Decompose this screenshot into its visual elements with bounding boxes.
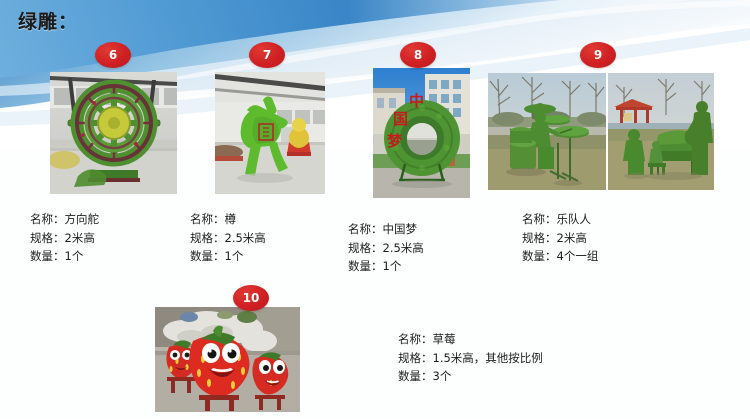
item-qty-label: 数量： xyxy=(522,249,557,263)
svg-text:中: 中 xyxy=(409,92,424,110)
item-qty-value: 1个 xyxy=(65,249,84,263)
item-name-value: 乐队人 xyxy=(557,212,592,226)
item-name-label: 名称： xyxy=(398,332,433,346)
item-name-value: 中国梦 xyxy=(383,222,418,236)
item-photo-9a[interactable] xyxy=(488,73,606,190)
svg-text:国: 国 xyxy=(393,110,408,128)
item-spec-label: 规格： xyxy=(30,231,65,245)
item-name-value: 草莓 xyxy=(433,332,456,346)
item-spec-row: 规格：2米高 xyxy=(522,229,598,248)
item-name-row: 名称：乐队人 xyxy=(522,210,598,229)
item-badge-label: 9 xyxy=(594,48,602,62)
slide-canvas: 绿雕： 6 xyxy=(0,0,750,419)
item-badge-label: 10 xyxy=(243,291,260,305)
item-qty-row: 数量：1个 xyxy=(30,247,99,266)
item-name-value: 樽 xyxy=(225,212,237,226)
item-spec-row: 规格：1.5米高，其他按比例 xyxy=(398,349,543,368)
item-name-row: 名称：草莓 xyxy=(398,330,543,349)
item-qty-row: 数量：1个 xyxy=(190,247,266,266)
china-dream-ring-topiary-photo: 中 国 梦 xyxy=(373,68,470,198)
piano-band-topiary-photo xyxy=(608,73,714,190)
item-qty-value: 4个一组 xyxy=(557,249,599,263)
item-spec-value: 2米高 xyxy=(557,231,587,245)
item-name-label: 名称： xyxy=(522,212,557,226)
item-spec-value: 2米高 xyxy=(65,231,95,245)
item-qty-row: 数量：4个一组 xyxy=(522,247,598,266)
zun-vessel-topiary-photo xyxy=(215,72,325,194)
item-qty-value: 1个 xyxy=(383,259,402,273)
item-qty-row: 数量：1个 xyxy=(348,257,424,276)
item-name-label: 名称： xyxy=(30,212,65,226)
item-qty-row: 数量：3个 xyxy=(398,367,543,386)
item-spec-value: 2.5米高 xyxy=(383,241,424,255)
svg-text:梦: 梦 xyxy=(387,132,403,150)
item-spec-value: 1.5米高，其他按比例 xyxy=(433,351,543,365)
item-spec-value: 2.5米高 xyxy=(225,231,266,245)
item-photo-10[interactable] xyxy=(155,307,300,412)
item-qty-label: 数量： xyxy=(348,259,383,273)
item-name-label: 名称： xyxy=(348,222,383,236)
item-spec-row: 规格：2.5米高 xyxy=(190,229,266,248)
item-qty-label: 数量： xyxy=(30,249,65,263)
item-photo-9b[interactable] xyxy=(608,73,714,190)
item-caption-10: 名称：草莓 规格：1.5米高，其他按比例 数量：3个 xyxy=(398,330,543,386)
item-spec-label: 规格： xyxy=(190,231,225,245)
item-name-row: 名称：方向舵 xyxy=(30,210,99,229)
item-spec-label: 规格： xyxy=(398,351,433,365)
strawberry-topiary-photo xyxy=(155,307,300,412)
item-badge-label: 7 xyxy=(263,48,271,62)
item-caption-8: 名称：中国梦 规格：2.5米高 数量：1个 xyxy=(348,220,424,276)
item-spec-label: 规格： xyxy=(348,241,383,255)
item-spec-row: 规格：2米高 xyxy=(30,229,99,248)
item-badge-10: 10 xyxy=(233,285,269,311)
item-caption-6: 名称：方向舵 规格：2米高 数量：1个 xyxy=(30,210,99,266)
item-caption-7: 名称：樽 规格：2.5米高 数量：1个 xyxy=(190,210,266,266)
item-badge-6: 6 xyxy=(95,42,131,68)
item-qty-label: 数量： xyxy=(398,369,433,383)
item-badge-label: 8 xyxy=(414,48,422,62)
item-spec-label: 规格： xyxy=(522,231,557,245)
item-spec-row: 规格：2.5米高 xyxy=(348,239,424,258)
item-badge-8: 8 xyxy=(400,42,436,68)
item-name-label: 名称： xyxy=(190,212,225,226)
ship-wheel-topiary-photo xyxy=(50,72,177,194)
item-qty-value: 1个 xyxy=(225,249,244,263)
item-qty-label: 数量： xyxy=(190,249,225,263)
item-photo-8[interactable]: 中 国 梦 xyxy=(373,68,470,198)
item-photo-6[interactable] xyxy=(50,72,177,194)
drummer-topiary-photo xyxy=(488,73,606,190)
item-badge-7: 7 xyxy=(249,42,285,68)
item-badge-9: 9 xyxy=(580,42,616,68)
item-name-row: 名称：中国梦 xyxy=(348,220,424,239)
item-name-value: 方向舵 xyxy=(65,212,100,226)
page-title: 绿雕： xyxy=(18,12,78,33)
item-name-row: 名称：樽 xyxy=(190,210,266,229)
item-badge-label: 6 xyxy=(109,48,117,62)
item-caption-9: 名称：乐队人 规格：2米高 数量：4个一组 xyxy=(522,210,598,266)
item-photo-7[interactable] xyxy=(215,72,325,194)
item-qty-value: 3个 xyxy=(433,369,452,383)
